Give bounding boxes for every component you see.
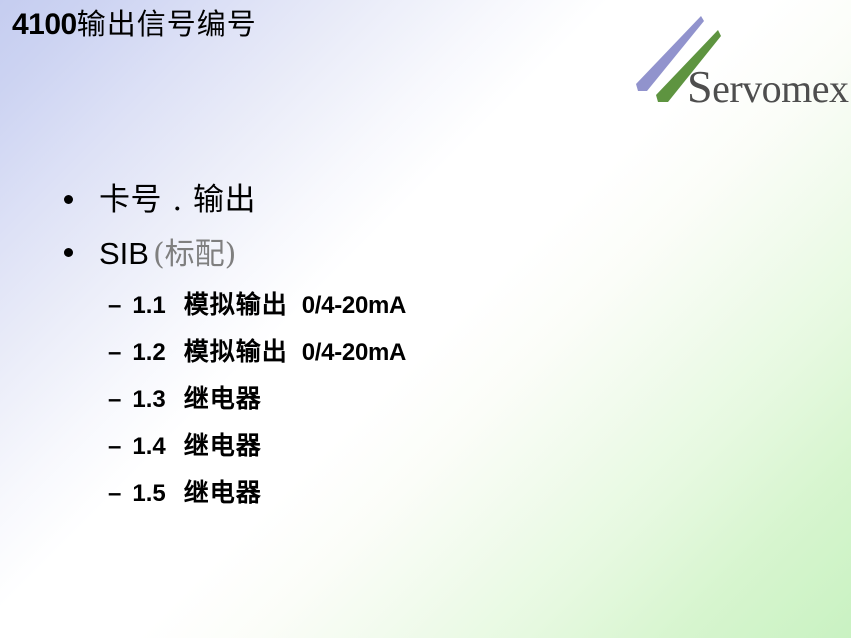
logo-wordmark-rest: ervomex: [712, 66, 848, 111]
bullet-text: 卡号 . 输出: [99, 182, 256, 218]
list-item: – 1.1 模拟输出 0/4-20mA: [0, 282, 851, 329]
logo-wordmark: Servomex: [687, 60, 849, 113]
sub-item-text: 模拟输出: [184, 337, 288, 366]
sub-item-index: 1.4: [132, 433, 165, 460]
sub-item-index: 1.3: [132, 386, 165, 413]
sub-item-index: 1.1: [132, 292, 165, 319]
slide-body: 卡号 . 输出 SIB (标配) – 1.1 模拟输出 0/4-20mA – 1…: [0, 176, 851, 517]
list-item: – 1.3 继电器: [0, 376, 851, 423]
list-item: – 1.2 模拟输出 0/4-20mA: [0, 329, 851, 376]
dash-marker-icon: –: [108, 386, 121, 413]
sub-item-text: 继电器: [184, 384, 262, 413]
dash-marker-icon: –: [108, 433, 121, 460]
dash-marker-icon: –: [108, 292, 121, 319]
slide-canvas: 4100输出信号编号 Servomex 卡号 . 输出 SIB (标配) – 1…: [0, 0, 851, 638]
sub-item-unit: 0/4-20mA: [302, 292, 406, 319]
bullet-label: SIB: [99, 236, 149, 271]
sub-item-text: 模拟输出: [184, 290, 288, 319]
bullet-note: (标配): [153, 237, 236, 272]
title-number: 4100: [12, 8, 77, 41]
page-title: 4100输出信号编号: [12, 8, 257, 41]
sub-item-index: 1.5: [132, 480, 165, 507]
sub-item-unit: 0/4-20mA: [302, 339, 406, 366]
bullet-dot-icon: [64, 195, 73, 204]
dash-marker-icon: –: [108, 339, 121, 366]
sub-item-index: 1.2: [132, 339, 165, 366]
title-text: 输出信号编号: [77, 7, 257, 41]
sub-item-text: 继电器: [184, 431, 262, 460]
list-item: 卡号 . 输出: [0, 176, 851, 229]
sub-item-text: 继电器: [184, 478, 262, 507]
dash-marker-icon: –: [108, 480, 121, 507]
list-item: – 1.4 继电器: [0, 423, 851, 470]
bullet-dot-icon: [64, 248, 73, 257]
logo-wordmark-cap: S: [687, 61, 712, 112]
list-item: SIB (标配): [0, 229, 851, 282]
list-item: – 1.5 继电器: [0, 470, 851, 517]
servomex-logo: Servomex: [625, 12, 851, 108]
